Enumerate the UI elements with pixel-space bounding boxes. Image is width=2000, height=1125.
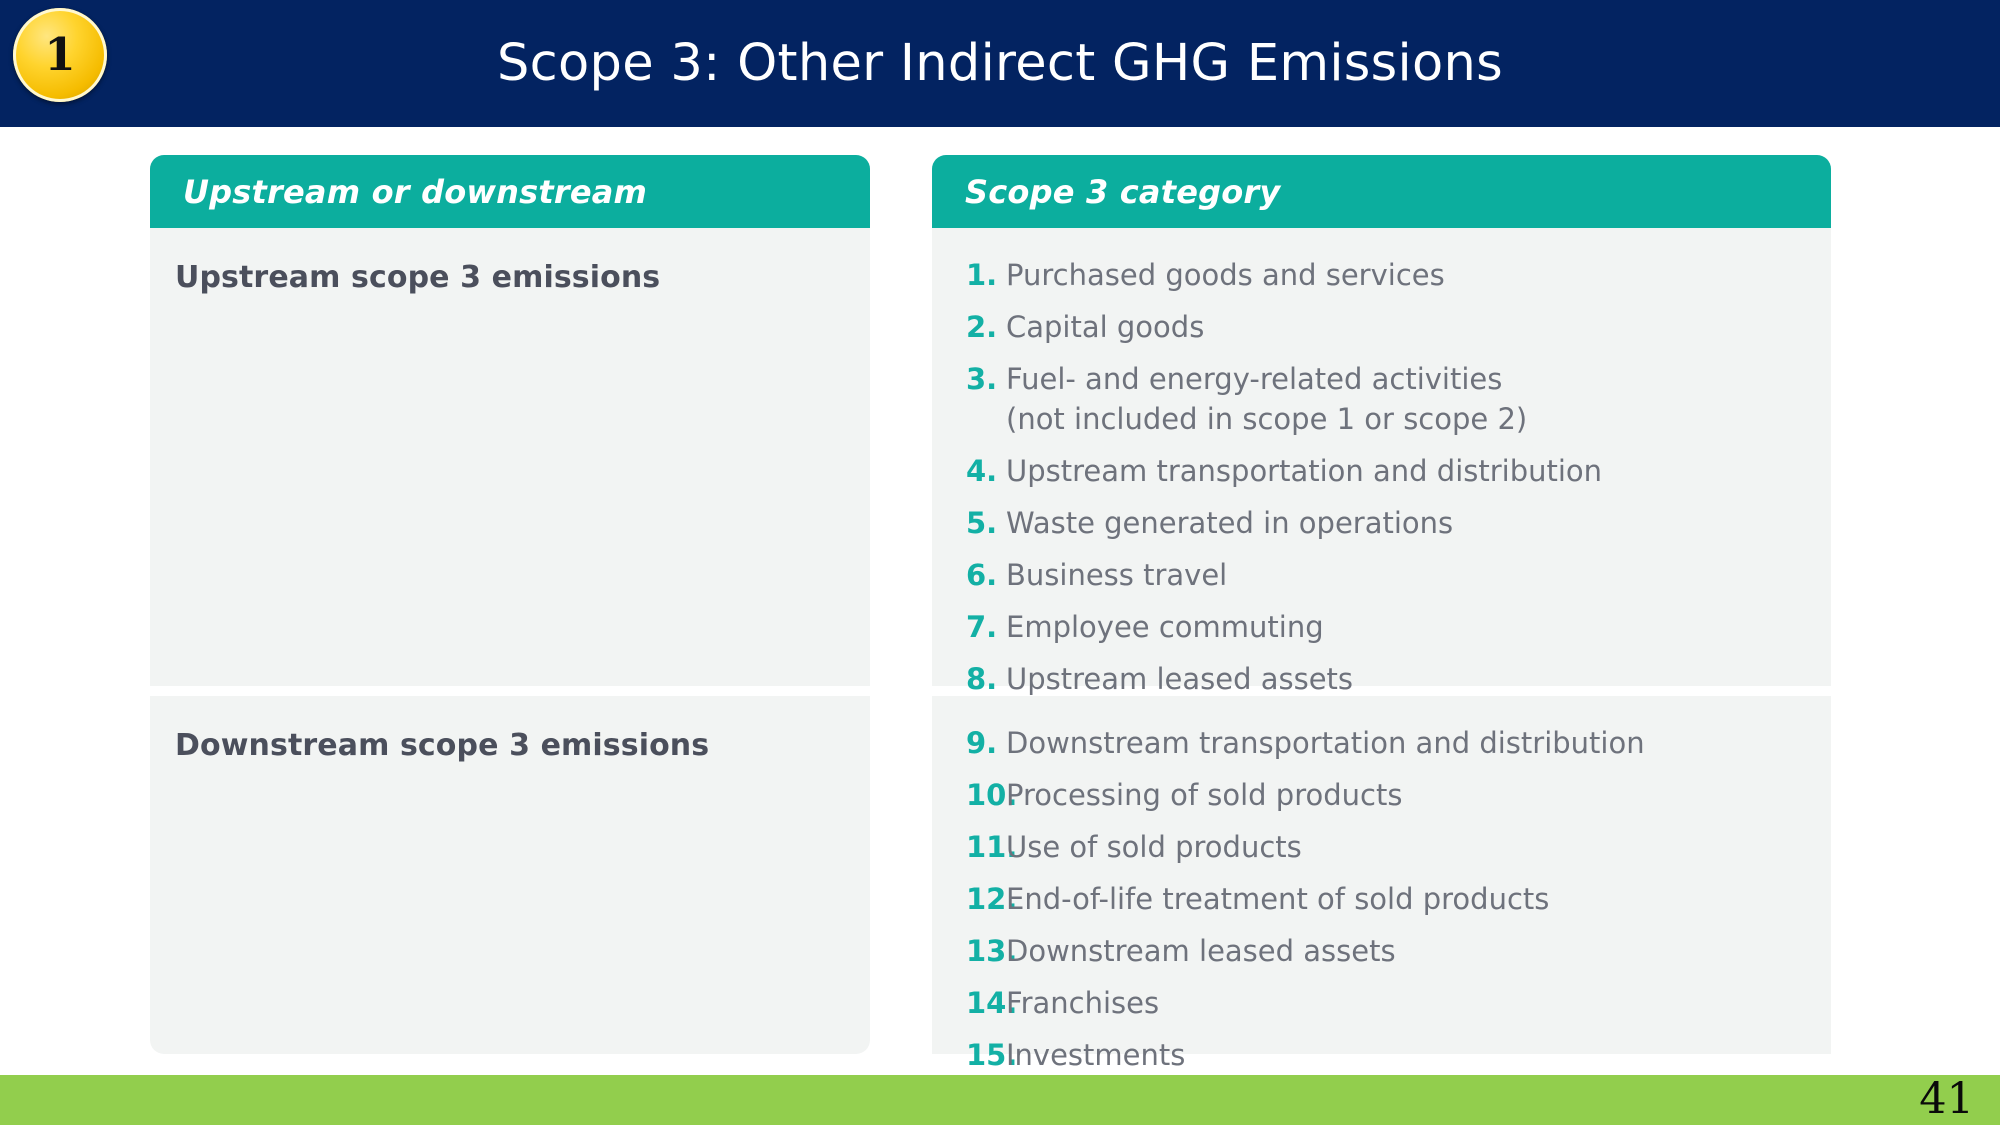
list-item: 10. Processing of sold products [932,775,1831,815]
list-item-number: 5. [932,503,1006,543]
column-header-scope3-category: Scope 3 category [932,155,1831,228]
list-item: 12. End-of-life treatment of sold produc… [932,879,1831,919]
list-item-label: Franchises [1006,983,1159,1023]
column-header-scope3-category-label: Scope 3 category [965,173,1280,211]
list-item-label: Business travel [1006,555,1227,595]
list-item-number: 15. [932,1035,1006,1075]
list-item: 11. Use of sold products [932,827,1831,867]
table-row-upstream-categories-cell: 1. Purchased goods and services 2. Capit… [932,228,1831,686]
list-item-label: Use of sold products [1006,827,1302,867]
list-item-number: 7. [932,607,1006,647]
column-header-upstream-downstream: Upstream or downstream [150,155,870,228]
page-number: 41 [1919,1075,1974,1123]
list-item: 15. Investments [932,1035,1831,1075]
column-header-upstream-downstream-label: Upstream or downstream [183,173,647,211]
list-item: 7. Employee commuting [932,607,1831,647]
list-item: 5. Waste generated in operations [932,503,1831,543]
page-title: Scope 3: Other Indirect GHG Emissions [0,0,2000,127]
list-item-number: 1. [932,255,1006,295]
table-row-downstream-label-cell: Downstream scope 3 emissions [150,696,870,1054]
table-column-upstream-downstream: Upstream or downstream Upstream scope 3 … [150,155,870,1054]
list-item: 14. Franchises [932,983,1831,1023]
list-item: 1. Purchased goods and services [932,255,1831,295]
list-item-number: 12. [932,879,1006,919]
list-item: 6. Business travel [932,555,1831,595]
list-item-number: 13. [932,931,1006,971]
list-item-number: 14. [932,983,1006,1023]
list-item-label: Upstream leased assets [1006,659,1353,699]
list-item-label: Capital goods [1006,307,1204,347]
scope3-table: Upstream or downstream Upstream scope 3 … [150,155,1831,1055]
downstream-category-list: 9. Downstream transportation and distrib… [932,723,1831,1075]
list-item-label: End-of-life treatment of sold products [1006,879,1549,919]
list-item-label: Processing of sold products [1006,775,1402,815]
list-item-label: Upstream transportation and distribution [1006,451,1602,491]
list-item-label: Fuel- and energy-related activities (not… [1006,359,1527,439]
slide-footer-bar [0,1075,2000,1125]
list-item: 13. Downstream leased assets [932,931,1831,971]
list-item: 4. Upstream transportation and distribut… [932,451,1831,491]
list-item-label: Purchased goods and services [1006,255,1445,295]
step-number-badge-label: 1 [44,32,75,77]
list-item-number: 2. [932,307,1006,347]
table-row-upstream-label-cell: Upstream scope 3 emissions [150,228,870,686]
table-row-downstream-categories-cell: 9. Downstream transportation and distrib… [932,696,1831,1054]
list-item-number: 3. [932,359,1006,399]
list-item-number: 11. [932,827,1006,867]
list-item-label: Employee commuting [1006,607,1324,647]
list-item-number: 4. [932,451,1006,491]
list-item: 3. Fuel- and energy-related activities (… [932,359,1831,439]
list-item: 9. Downstream transportation and distrib… [932,723,1831,763]
list-item-number: 8. [932,659,1006,699]
list-item-label: Downstream transportation and distributi… [1006,723,1645,763]
step-number-badge: 1 [13,8,107,102]
list-item-label: Downstream leased assets [1006,931,1396,971]
list-item: 2. Capital goods [932,307,1831,347]
list-item-number: 9. [932,723,1006,763]
list-item-label: Investments [1006,1035,1185,1075]
list-item-number: 10. [932,775,1006,815]
list-item-label: Waste generated in operations [1006,503,1453,543]
list-item-number: 6. [932,555,1006,595]
row-divider [150,686,870,696]
upstream-category-list: 1. Purchased goods and services 2. Capit… [932,255,1831,699]
row-label-upstream: Upstream scope 3 emissions [175,260,870,295]
row-label-downstream: Downstream scope 3 emissions [175,728,870,763]
table-column-scope3-category: Scope 3 category 1. Purchased goods and … [932,155,1831,1054]
